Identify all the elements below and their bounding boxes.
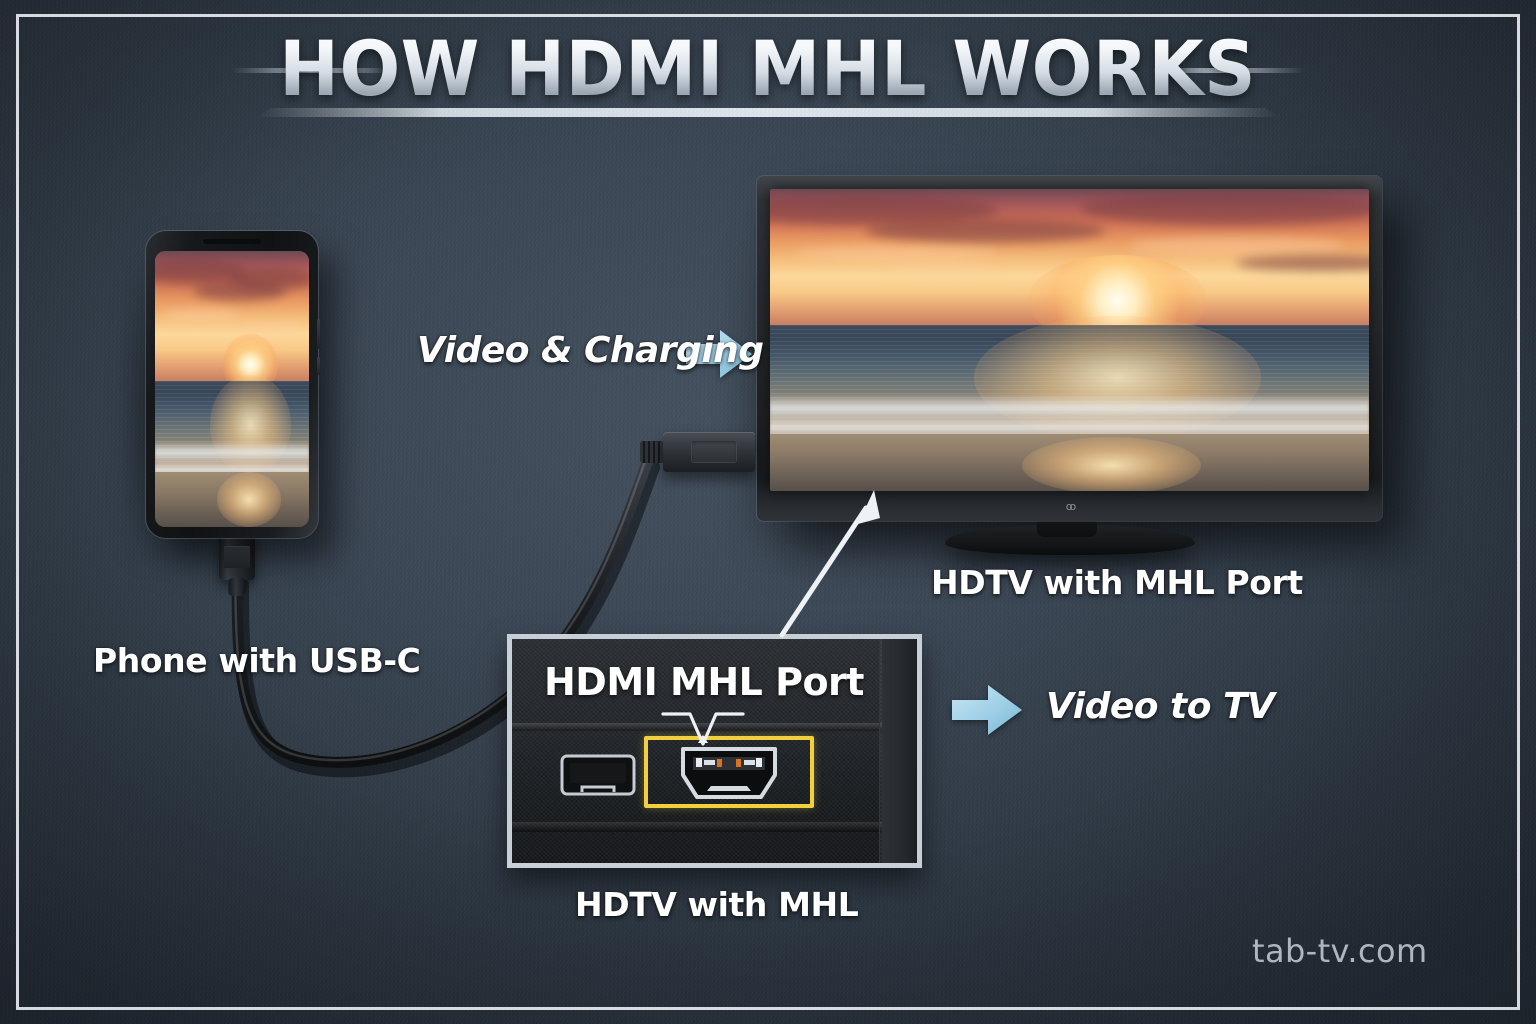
label-video-and-charging: Video & Charging	[417, 330, 764, 371]
title-block: HOW HDMI MHL WORKS	[0, 24, 1536, 113]
usb-c-strain-relief	[229, 578, 246, 596]
inset-ridge-bottom	[512, 822, 917, 832]
port-callout-v-icon	[660, 711, 746, 749]
usb-c-grip	[224, 546, 250, 568]
inset-title: HDMI MHL Port	[544, 660, 864, 704]
inset-to-tv-pointer-arrow-icon	[770, 480, 900, 645]
label-video-to-tv: Video to TV	[1046, 686, 1274, 727]
hdmi-mhl-port-icon[interactable]	[677, 745, 781, 801]
label-hdtv-with-mhl-port: HDTV with MHL Port	[931, 563, 1303, 602]
usb-port-icon	[560, 754, 636, 796]
phone-power-button[interactable]	[317, 357, 320, 375]
hdmi-connector	[663, 432, 755, 472]
hdtv-device[interactable]: oo	[757, 176, 1382, 521]
tv-brand-logo: oo	[1059, 501, 1081, 512]
phone-device[interactable]	[146, 231, 318, 538]
inset-side-panel	[879, 639, 917, 863]
hdmi-connector-emboss	[691, 440, 737, 463]
phone-earpiece	[203, 239, 261, 244]
phone-volume-button[interactable]	[317, 319, 320, 349]
phone-wallpaper-sunset	[155, 251, 309, 527]
page-title: HOW HDMI MHL WORKS	[280, 24, 1257, 113]
watermark: tab-tv.com	[1252, 932, 1428, 970]
tv-content-sunset	[770, 189, 1369, 491]
label-phone-with-usb-c: Phone with USB-C	[93, 641, 421, 680]
label-hdtv-with-mhl: HDTV with MHL	[575, 885, 858, 924]
infographic-canvas: HOW HDMI MHL WORKS	[0, 0, 1536, 1024]
usb-c-connector	[219, 534, 255, 580]
phone-screen	[155, 251, 309, 527]
hdmi-port-inset-panel[interactable]: HDMI MHL Port	[507, 634, 922, 868]
tv-screen	[770, 189, 1369, 491]
video-to-tv-arrow-icon	[950, 680, 1024, 740]
